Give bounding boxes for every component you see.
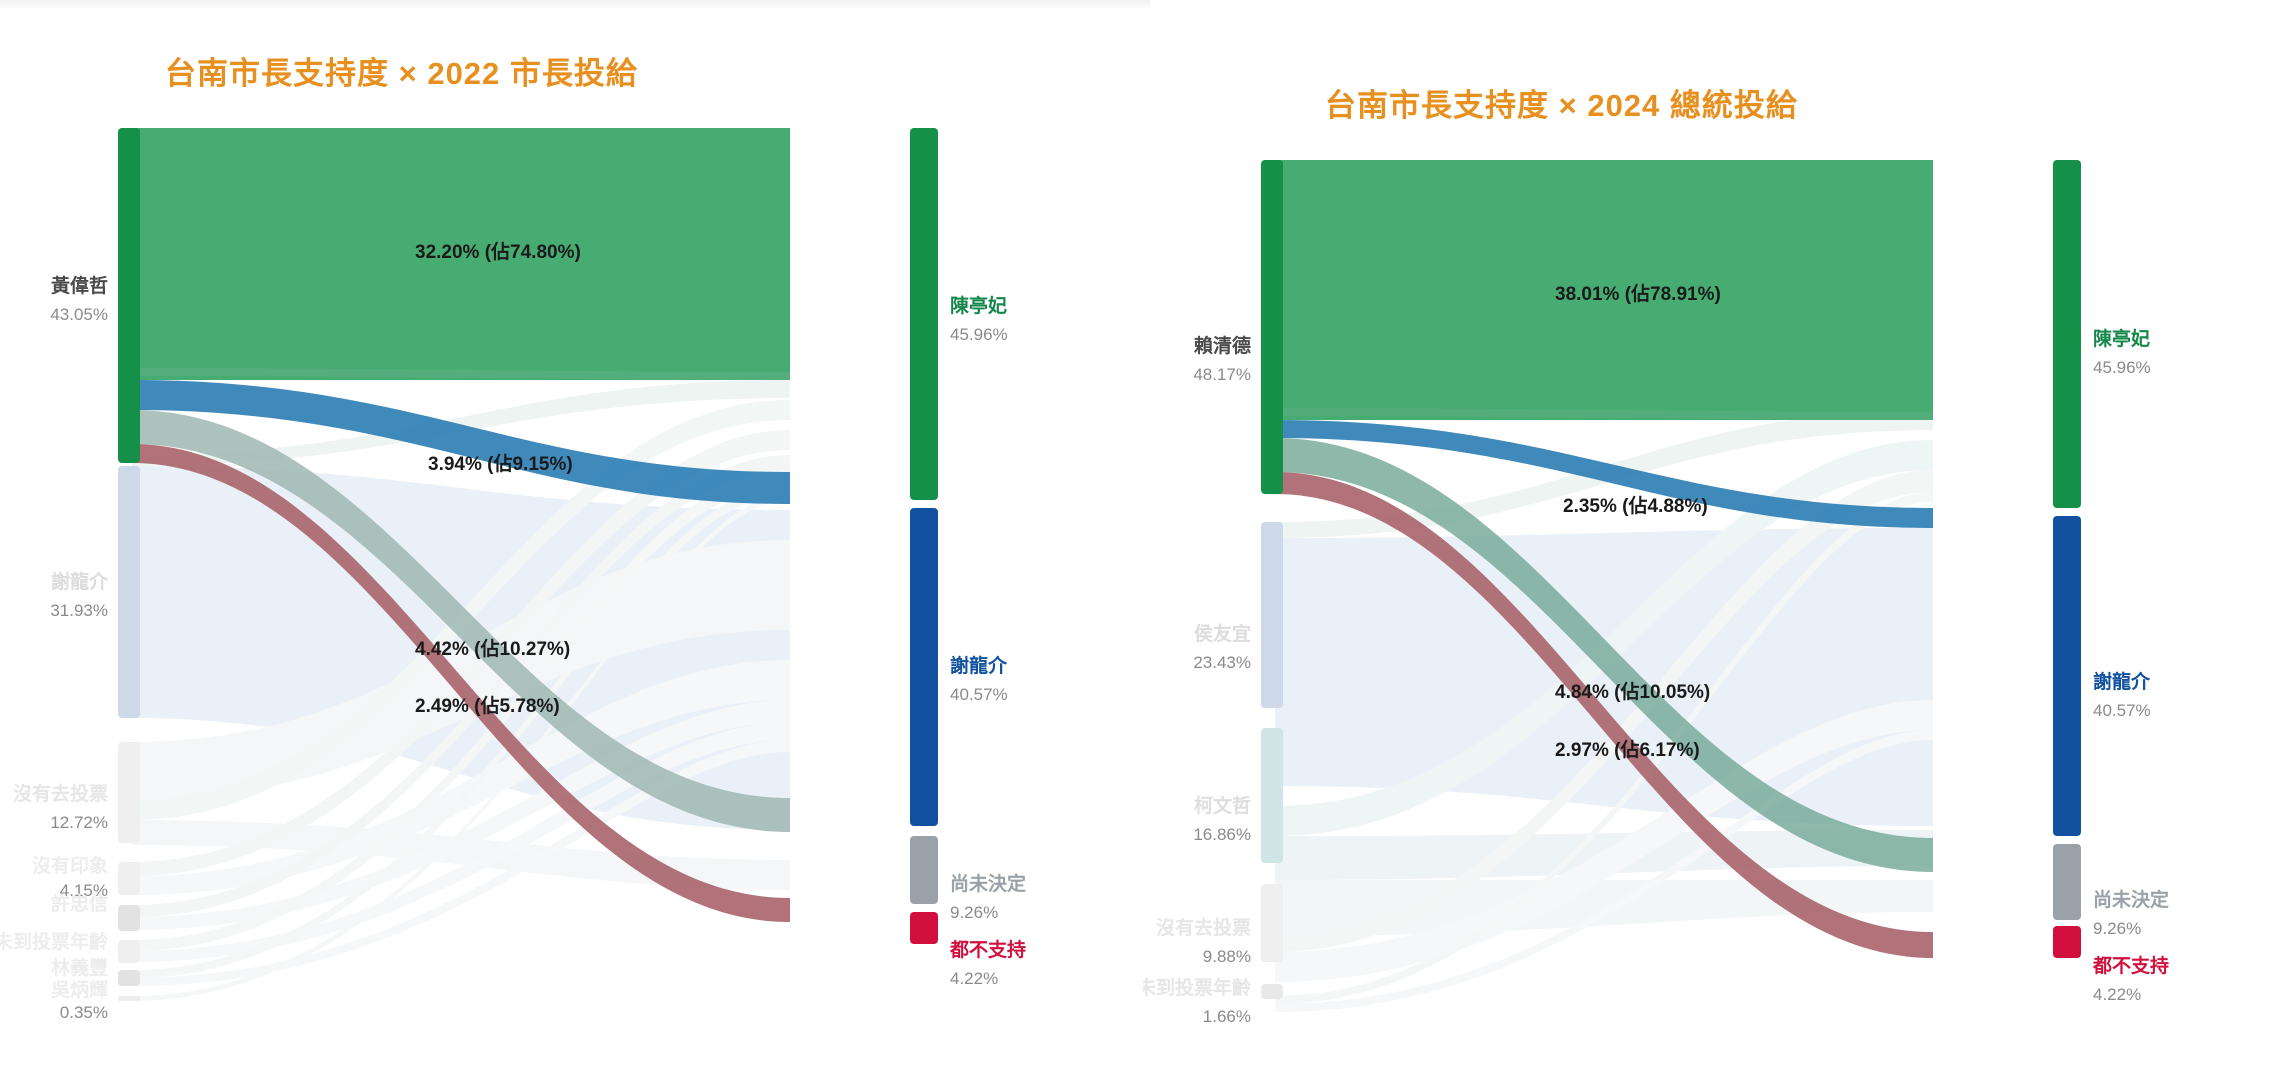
node-label-value: 0.35% — [60, 1003, 108, 1022]
right-node-labels-right-chart: 陳亭妃 45.96% 謝龍介 40.57% 尚未決定 9.26% 都不支持 4.… — [2092, 327, 2169, 1004]
node-left-7[interactable] — [118, 996, 140, 1001]
node-label-value: 1.66% — [1203, 1007, 1251, 1026]
chart-panel-left: 台南市長支持度 × 2022 市長投給 — [0, 0, 1143, 1080]
flow-label: 2.97% (佔6.17%) — [1555, 738, 1700, 761]
chart-panel-right: 台南市長支持度 × 2024 總統投給 — [1143, 0, 2286, 1080]
node-label-value: 16.86% — [1193, 825, 1251, 844]
node-label-name: 沒有去投票 — [1156, 916, 1251, 939]
node-label-value: 9.26% — [950, 903, 998, 922]
node-left-3[interactable] — [118, 862, 140, 895]
node-label-name: 謝龍介 — [950, 654, 1008, 677]
node-label-value: 45.96% — [2093, 358, 2151, 377]
node-label-name: 謝龍介 — [2093, 670, 2151, 693]
node-label-name: 沒有印象 — [32, 854, 108, 877]
right-nodes-right-chart — [2053, 160, 2081, 958]
node-left-1[interactable] — [1261, 522, 1283, 708]
node-label-value: 40.57% — [950, 685, 1008, 704]
node-label-name: 謝龍介 — [51, 570, 109, 593]
node-label-value: 40.57% — [2093, 701, 2151, 720]
node-label-name: 許忠信 — [51, 892, 108, 915]
node-right-0[interactable] — [2053, 160, 2081, 508]
node-label-name: 未到投票年齡 — [1143, 976, 1251, 999]
left-node-labels-left-chart: 黃偉哲 43.05% 謝龍介 31.93% 沒有去投票 12.72% 沒有印象 … — [0, 274, 109, 1022]
node-right-2[interactable] — [910, 836, 938, 904]
node-right-3[interactable] — [2053, 926, 2081, 958]
node-label-name: 尚未決定 — [2093, 888, 2169, 911]
node-label-value: 45.96% — [950, 325, 1008, 344]
node-label-value: 12.72% — [50, 813, 108, 832]
node-label-name: 未到投票年齡 — [0, 930, 108, 953]
node-label-value: 43.05% — [50, 305, 108, 324]
node-left-2[interactable] — [118, 742, 140, 843]
node-left-3[interactable] — [1261, 884, 1283, 962]
sankey-svg-right: 賴清德 48.17% 侯友宜 23.43% 柯文哲 16.86% 沒有去投票 9… — [1143, 0, 2286, 1080]
left-node-labels-right-chart: 賴清德 48.17% 侯友宜 23.43% 柯文哲 16.86% 沒有去投票 9… — [1143, 334, 1251, 1026]
node-label-value: 9.26% — [2093, 919, 2141, 938]
node-label-name: 陳亭妃 — [950, 294, 1007, 317]
flow-label: 2.35% (佔4.88%) — [1563, 494, 1708, 517]
node-label-name: 柯文哲 — [1194, 794, 1251, 817]
node-right-0[interactable] — [910, 128, 938, 500]
node-left-2[interactable] — [1261, 728, 1283, 863]
node-label-name: 侯友宜 — [1194, 622, 1251, 645]
node-left-0[interactable] — [118, 128, 140, 463]
right-nodes-left-chart — [910, 128, 938, 944]
node-label-name: 吳炳輝 — [51, 979, 108, 1001]
node-right-1[interactable] — [910, 508, 938, 826]
faded-link — [1275, 528, 1933, 826]
node-label-value: 31.93% — [50, 601, 108, 620]
flow-label: 32.20% (佔74.80%) — [415, 240, 581, 263]
node-label-name: 黃偉哲 — [51, 274, 108, 297]
node-left-1[interactable] — [118, 466, 140, 718]
node-label-name: 尚未決定 — [950, 872, 1026, 895]
flow-label: 4.84% (佔10.05%) — [1555, 680, 1710, 703]
node-label-value: 48.17% — [1193, 365, 1251, 384]
node-right-1[interactable] — [2053, 516, 2081, 836]
node-label-name: 沒有去投票 — [13, 782, 108, 805]
flow-label: 38.01% (佔78.91%) — [1555, 282, 1721, 305]
node-label-value: 4.22% — [2093, 985, 2141, 1004]
node-label-name: 陳亭妃 — [2093, 327, 2150, 350]
node-left-4[interactable] — [1261, 984, 1283, 999]
node-left-4[interactable] — [118, 905, 140, 931]
node-label-name: 林義豐 — [51, 956, 108, 979]
flow-label: 3.94% (佔9.15%) — [428, 452, 573, 475]
node-label-value: 23.43% — [1193, 653, 1251, 672]
node-label-value: 4.22% — [950, 969, 998, 988]
node-left-0[interactable] — [1261, 160, 1283, 494]
node-label-value: 9.88% — [1203, 947, 1251, 966]
node-label-name: 都不支持 — [949, 938, 1026, 961]
left-nodes-left-chart — [118, 128, 140, 1001]
flow-label: 2.49% (佔5.78%) — [415, 694, 560, 717]
node-left-6[interactable] — [118, 970, 140, 986]
flow-label: 4.42% (佔10.27%) — [415, 637, 570, 660]
node-right-2[interactable] — [2053, 844, 2081, 920]
node-right-3[interactable] — [910, 912, 938, 944]
right-node-labels-left-chart: 陳亭妃 45.96% 謝龍介 40.57% 尚未決定 9.26% 都不支持 4.… — [949, 294, 1026, 988]
sankey-svg-left: 黃偉哲 43.05% 謝龍介 31.93% 沒有去投票 12.72% 沒有印象 … — [0, 0, 1143, 1080]
node-left-5[interactable] — [118, 940, 140, 963]
node-label-name: 賴清德 — [1194, 334, 1251, 357]
node-label-name: 都不支持 — [2092, 954, 2169, 977]
